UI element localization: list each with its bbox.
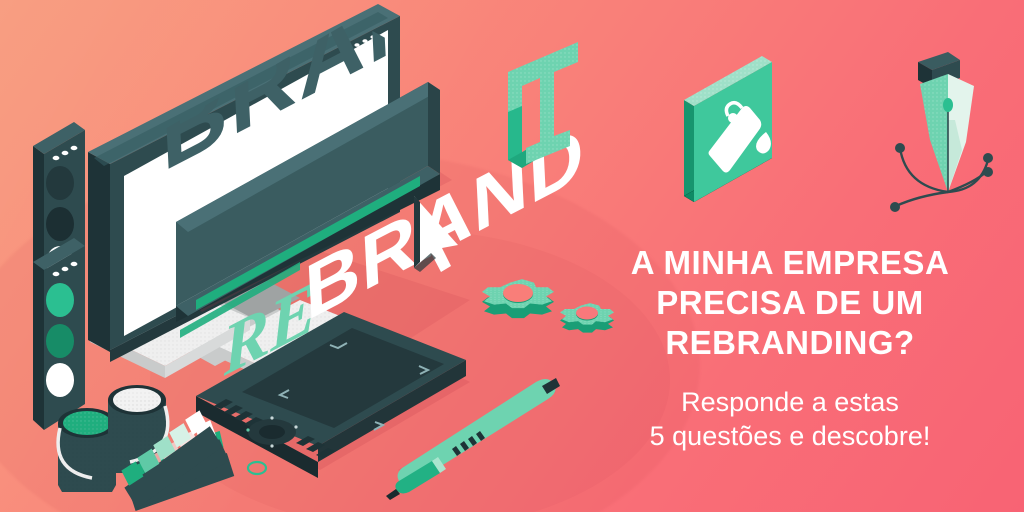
subheadline: Responde a estas 5 questões e descobre! [566, 385, 1014, 453]
gear-icon-large [482, 279, 554, 318]
promo-copy: A MINHA EMPRESA PRECISA DE UM REBRANDING… [566, 243, 1014, 453]
bezier-anchor[interactable] [983, 153, 993, 163]
bezier-anchor[interactable] [890, 202, 900, 212]
bezier-anchor[interactable] [895, 143, 905, 153]
rebranding-promo-banner: BRAND RE BRAND [0, 0, 1024, 512]
headline-line-2: PRECISA DE UM [566, 283, 1014, 323]
paint-can-green [58, 408, 116, 492]
headline: A MINHA EMPRESA PRECISA DE UM REBRANDING… [566, 243, 1014, 363]
paint-bucket-icon [684, 56, 772, 202]
pen-nib-icon [890, 52, 993, 212]
tool-panel-green [33, 238, 85, 430]
subheadline-line-1: Responde a estas [566, 385, 1014, 419]
headline-line-1: A MINHA EMPRESA [566, 243, 1014, 283]
subheadline-line-2: 5 questões e descobre! [566, 419, 1014, 453]
bezier-anchor[interactable] [983, 167, 993, 177]
headline-line-3: REBRANDING? [566, 323, 1014, 363]
